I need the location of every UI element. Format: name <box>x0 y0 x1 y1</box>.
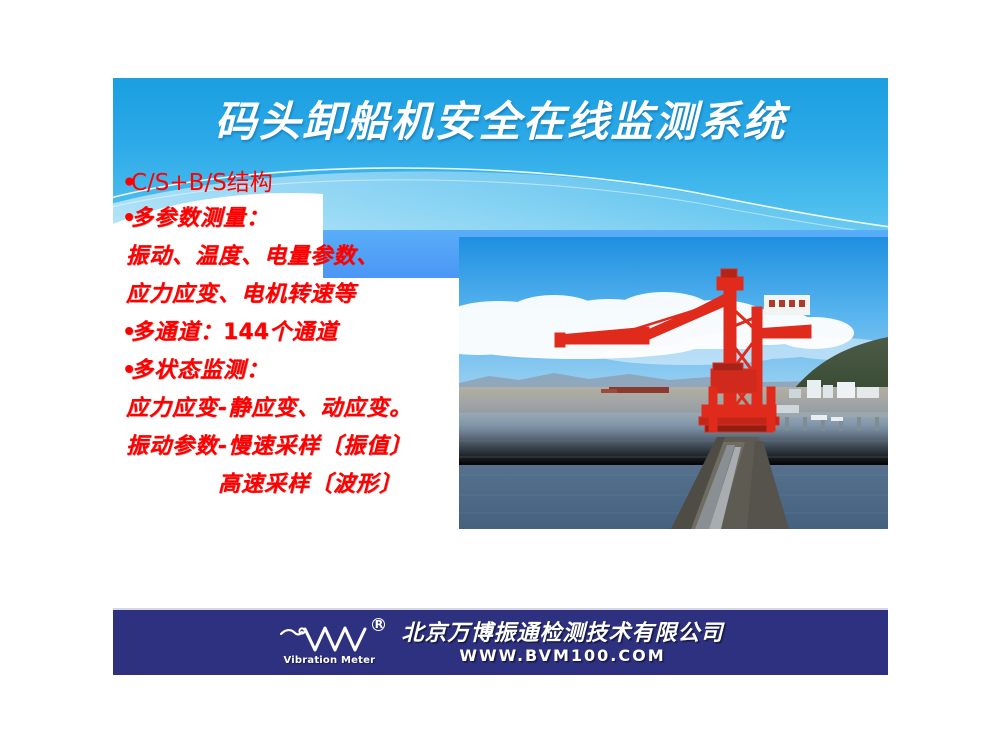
bullet-item-7: 应力应变-静应变、动应变。 <box>122 390 467 428</box>
bullet-item-5: •多通道：144个通道 <box>122 314 467 352</box>
company-name-cn: 北京万博振通检测技术有限公司 <box>401 621 723 646</box>
channel-count: 144 <box>223 320 269 345</box>
bullet-text-5a: 多通道： <box>131 320 223 345</box>
bullet-text-4: 应力应变、电机转速等 <box>126 282 356 307</box>
bullet-text-2: 多参数测量： <box>131 206 269 231</box>
bullet-text-3: 振动、温度、电量参数、 <box>126 244 379 269</box>
photo-distant-barge <box>601 387 669 393</box>
bullet-text-7: 应力应变-静应变、动应变。 <box>126 396 412 421</box>
footer-bar: R Vibration Meter 北京万博振通检测技术有限公司 WWW.BVM… <box>113 608 888 675</box>
bullet-item-8: 振动参数-慢速采样〔振值〕 <box>122 428 467 466</box>
page-title: 码头卸船机安全在线监测系统 <box>113 96 888 148</box>
bullet-marker-2: • <box>122 200 131 238</box>
bullet-text-6: 多状态监测： <box>131 358 269 383</box>
logo-subtitle: Vibration Meter <box>283 655 375 666</box>
bullet-item-1: •C/S+B/S结构 <box>122 166 467 200</box>
bullet-item-3: 振动、温度、电量参数、 <box>122 238 467 276</box>
bullet-marker-1: • <box>122 166 131 200</box>
company-identity: 北京万博振通检测技术有限公司 WWW.BVM100.COM <box>401 621 723 665</box>
registered-trademark-icon: R <box>372 618 385 631</box>
bullet-list: •C/S+B/S结构 •多参数测量： 振动、温度、电量参数、 应力应变、电机转速… <box>122 166 467 504</box>
bullet-text-8: 振动参数-慢速采样〔振值〕 <box>126 434 412 459</box>
slide-canvas: 码头卸船机安全在线监测系统 •C/S+B/S结构 •多参数测量： 振动、温度、电… <box>0 0 1000 750</box>
bullet-marker-6: • <box>122 352 131 390</box>
site-photo <box>459 237 888 529</box>
site-photo-illustration <box>459 237 888 529</box>
company-website[interactable]: WWW.BVM100.COM <box>401 646 723 665</box>
bullet-item-4: 应力应变、电机转速等 <box>122 276 467 314</box>
bullet-text-1: C/S+B/S结构 <box>131 170 273 196</box>
bullet-marker-5: • <box>122 314 131 352</box>
vibration-wave-icon <box>277 620 381 654</box>
brand-logo: R Vibration Meter <box>277 618 389 668</box>
bullet-text-5b: 个通道 <box>269 320 338 345</box>
bullet-item-9: 高速采样〔波形〕 <box>122 466 467 504</box>
bullet-item-6: •多状态监测： <box>122 352 467 390</box>
photo-crane-sign <box>764 295 810 315</box>
bullet-item-2: •多参数测量： <box>122 200 467 238</box>
bullet-text-9: 高速采样〔波形〕 <box>218 472 402 497</box>
